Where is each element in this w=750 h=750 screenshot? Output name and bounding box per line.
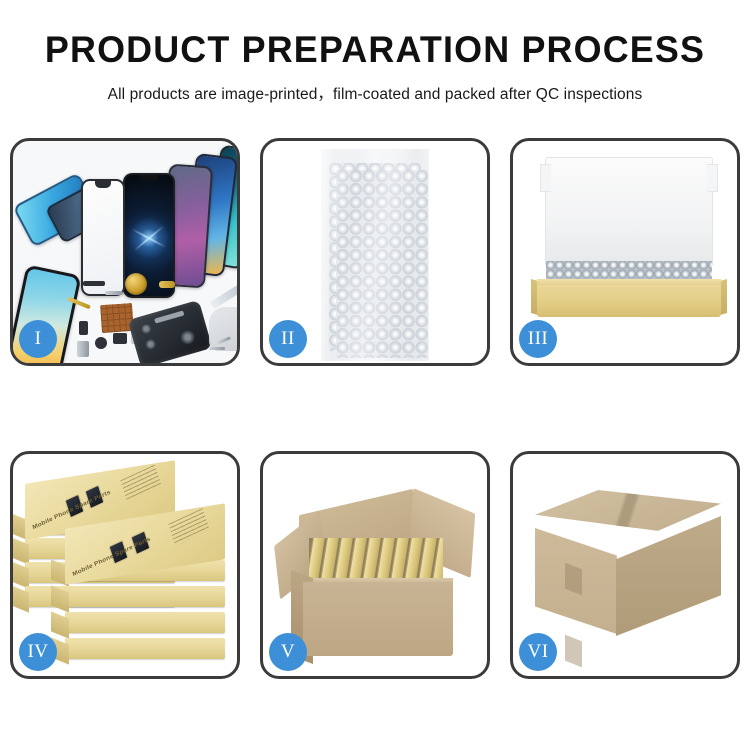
step-badge-3: III xyxy=(519,320,557,358)
bubble-layer-back xyxy=(336,170,428,358)
camera-lens-icon xyxy=(139,322,153,336)
product-preparation-infographic: PRODUCT PREPARATION PROCESS All products… xyxy=(0,0,750,750)
page-title: PRODUCT PREPARATION PROCESS xyxy=(11,30,739,71)
step-panel-carton-filling: V xyxy=(260,451,490,679)
box-art-textlines xyxy=(168,508,209,546)
sealed-carton xyxy=(535,490,721,646)
steps-grid: I II xyxy=(10,138,740,679)
bubble-wrap-bag xyxy=(321,149,429,361)
step-panel-products-and-spare-parts: I xyxy=(10,138,240,366)
housing-strip xyxy=(154,310,184,323)
phone-back-housing xyxy=(128,300,213,363)
page-subtitle: All products are image-printed，film-coat… xyxy=(0,82,750,104)
small-part-button xyxy=(79,321,88,335)
small-part-connector xyxy=(83,281,105,286)
screen-graphic-icon xyxy=(128,217,170,259)
step-panel-bubble-wrap: II xyxy=(260,138,490,366)
header: PRODUCT PREPARATION PROCESS All products… xyxy=(0,0,750,104)
box-front-face xyxy=(537,285,721,317)
step-badge-5: V xyxy=(269,633,307,671)
small-part-screw xyxy=(209,347,225,350)
box-art-textlines xyxy=(120,465,161,503)
gold-coil-part xyxy=(125,273,147,295)
small-part-speaker xyxy=(95,337,107,349)
step-badge-1: I xyxy=(19,320,57,358)
camera-lens-icon xyxy=(144,337,158,351)
box-label-text: Mobile Phone Spare Parts xyxy=(72,536,152,578)
camera-lens-icon xyxy=(179,329,196,346)
step-panel-sealed-carton: VI xyxy=(510,451,740,679)
small-part-gold-clip xyxy=(159,281,175,288)
small-part-bracket xyxy=(105,291,123,295)
screen-protector xyxy=(81,179,125,296)
chip-array-part xyxy=(100,303,134,333)
step-panel-stacked-inner-boxes: Mobile Phone Spare Parts Mobile Phone Sp… xyxy=(10,451,240,679)
step-panel-inner-box-packing: III xyxy=(510,138,740,366)
step-badge-6: VI xyxy=(519,633,557,671)
carton-right-face xyxy=(616,516,721,636)
stacked-box xyxy=(65,586,225,607)
hand xyxy=(209,307,237,351)
carton-tape-patch xyxy=(565,635,582,668)
stacked-box xyxy=(65,612,225,633)
carton-front-face xyxy=(303,582,453,656)
small-part-camera-module xyxy=(113,333,127,344)
step-badge-4: IV xyxy=(19,633,57,671)
box-lid xyxy=(545,157,713,265)
inner-box xyxy=(537,261,721,317)
stacked-box xyxy=(65,638,225,659)
step-badge-2: II xyxy=(269,320,307,358)
small-part-holder xyxy=(77,341,89,357)
tweezers-icon xyxy=(210,281,237,309)
